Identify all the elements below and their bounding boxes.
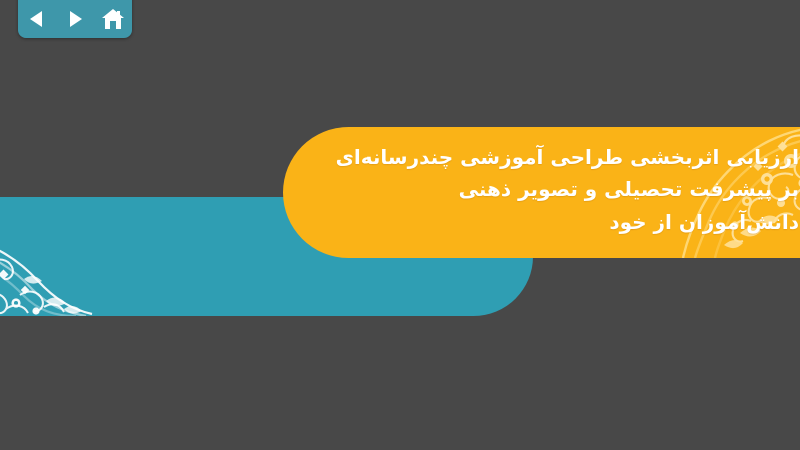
slideshow-navigation-toolbar[interactable]: [18, 0, 132, 38]
home-button[interactable]: [99, 6, 127, 32]
slide-title: ارزیابی اثربخشی طراحی آموزشی چندرسانه‌ای…: [323, 141, 799, 238]
home-icon: [101, 8, 125, 31]
triangle-left-icon: [26, 8, 48, 30]
title-line-1: ارزیابی اثربخشی طراحی آموزشی چندرسانه‌ای: [323, 141, 799, 173]
teal-arabesque-ornament-icon: [0, 197, 150, 316]
triangle-right-icon: [64, 8, 86, 30]
previous-slide-button[interactable]: [23, 6, 51, 32]
title-banner: ارزیابی اثربخشی طراحی آموزشی چندرسانه‌ای…: [283, 127, 800, 258]
title-line-2: بر پیشرفت تحصیلی و تصویر ذهنی: [323, 173, 799, 205]
next-slide-button[interactable]: [61, 6, 89, 32]
title-line-3: دانش‌آموزان از خود: [323, 206, 799, 238]
presentation-slide: ارزیابی اثربخشی طراحی آموزشی چندرسانه‌ای…: [0, 0, 800, 450]
